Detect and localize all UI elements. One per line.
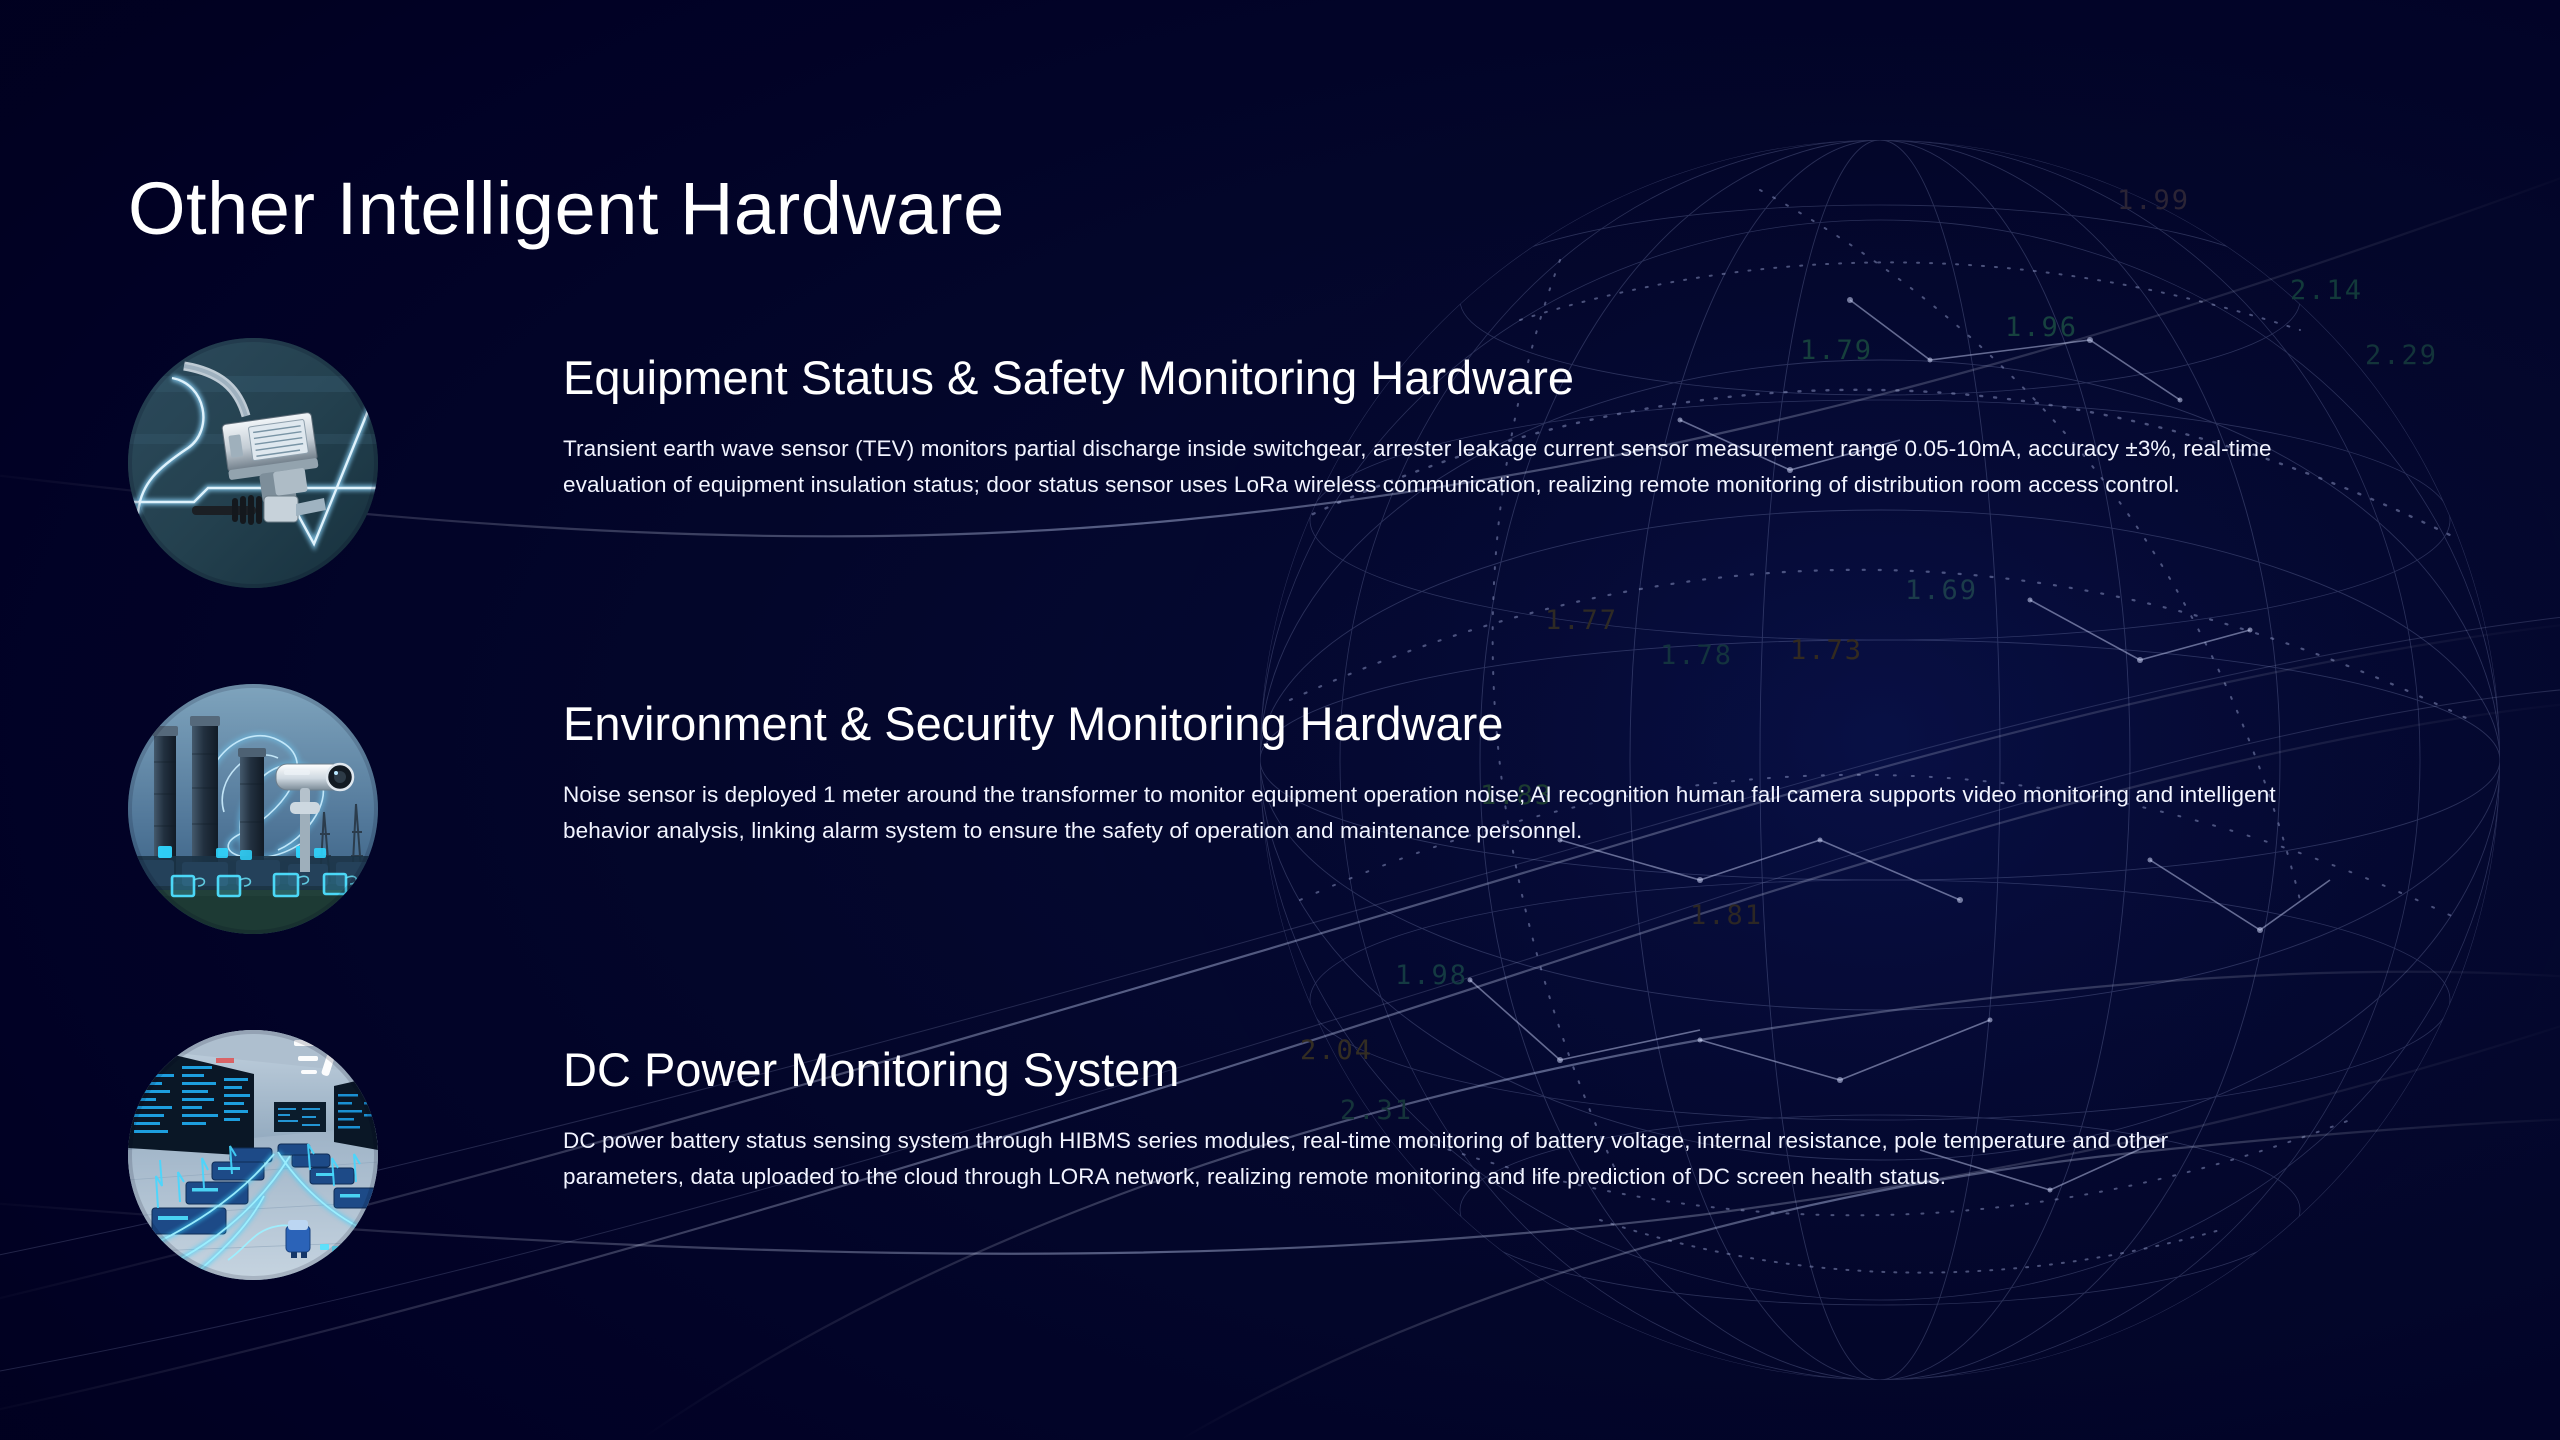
background-number-label: 2.14 (2290, 275, 2363, 306)
page-title: Other Intelligent Hardware (128, 170, 1005, 248)
section-environment-security: Environment & Security Monitoring Hardwa… (128, 676, 2428, 934)
data-center-room-photo (128, 1030, 378, 1280)
section-title: Environment & Security Monitoring Hardwa… (563, 698, 2428, 751)
slide-root: 1.992.141.961.792.291.771.691.781.731.83… (0, 0, 2560, 1440)
section-body: Environment & Security Monitoring Hardwa… (378, 676, 2428, 850)
section-description: Noise sensor is deployed 1 meter around … (563, 777, 2283, 850)
section-body: Equipment Status & Safety Monitoring Har… (378, 330, 2428, 504)
section-dc-power-monitoring: DC Power Monitoring System DC power batt… (128, 1022, 2428, 1280)
background-number-label: 1.99 (2117, 185, 2190, 216)
section-title: Equipment Status & Safety Monitoring Har… (563, 352, 2428, 405)
sensor-device-photo (128, 338, 378, 588)
section-description: Transient earth wave sensor (TEV) monito… (563, 431, 2283, 504)
section-thumbnail-wrapper (128, 684, 378, 934)
industrial-plant-camera-photo (128, 684, 378, 934)
section-body: DC Power Monitoring System DC power batt… (378, 1022, 2428, 1196)
section-title: DC Power Monitoring System (563, 1044, 2428, 1097)
section-list: Equipment Status & Safety Monitoring Har… (128, 330, 2428, 1368)
section-description: DC power battery status sensing system t… (563, 1123, 2283, 1196)
section-thumbnail-wrapper (128, 338, 378, 588)
section-thumbnail-wrapper (128, 1030, 378, 1280)
section-equipment-status-safety: Equipment Status & Safety Monitoring Har… (128, 330, 2428, 588)
